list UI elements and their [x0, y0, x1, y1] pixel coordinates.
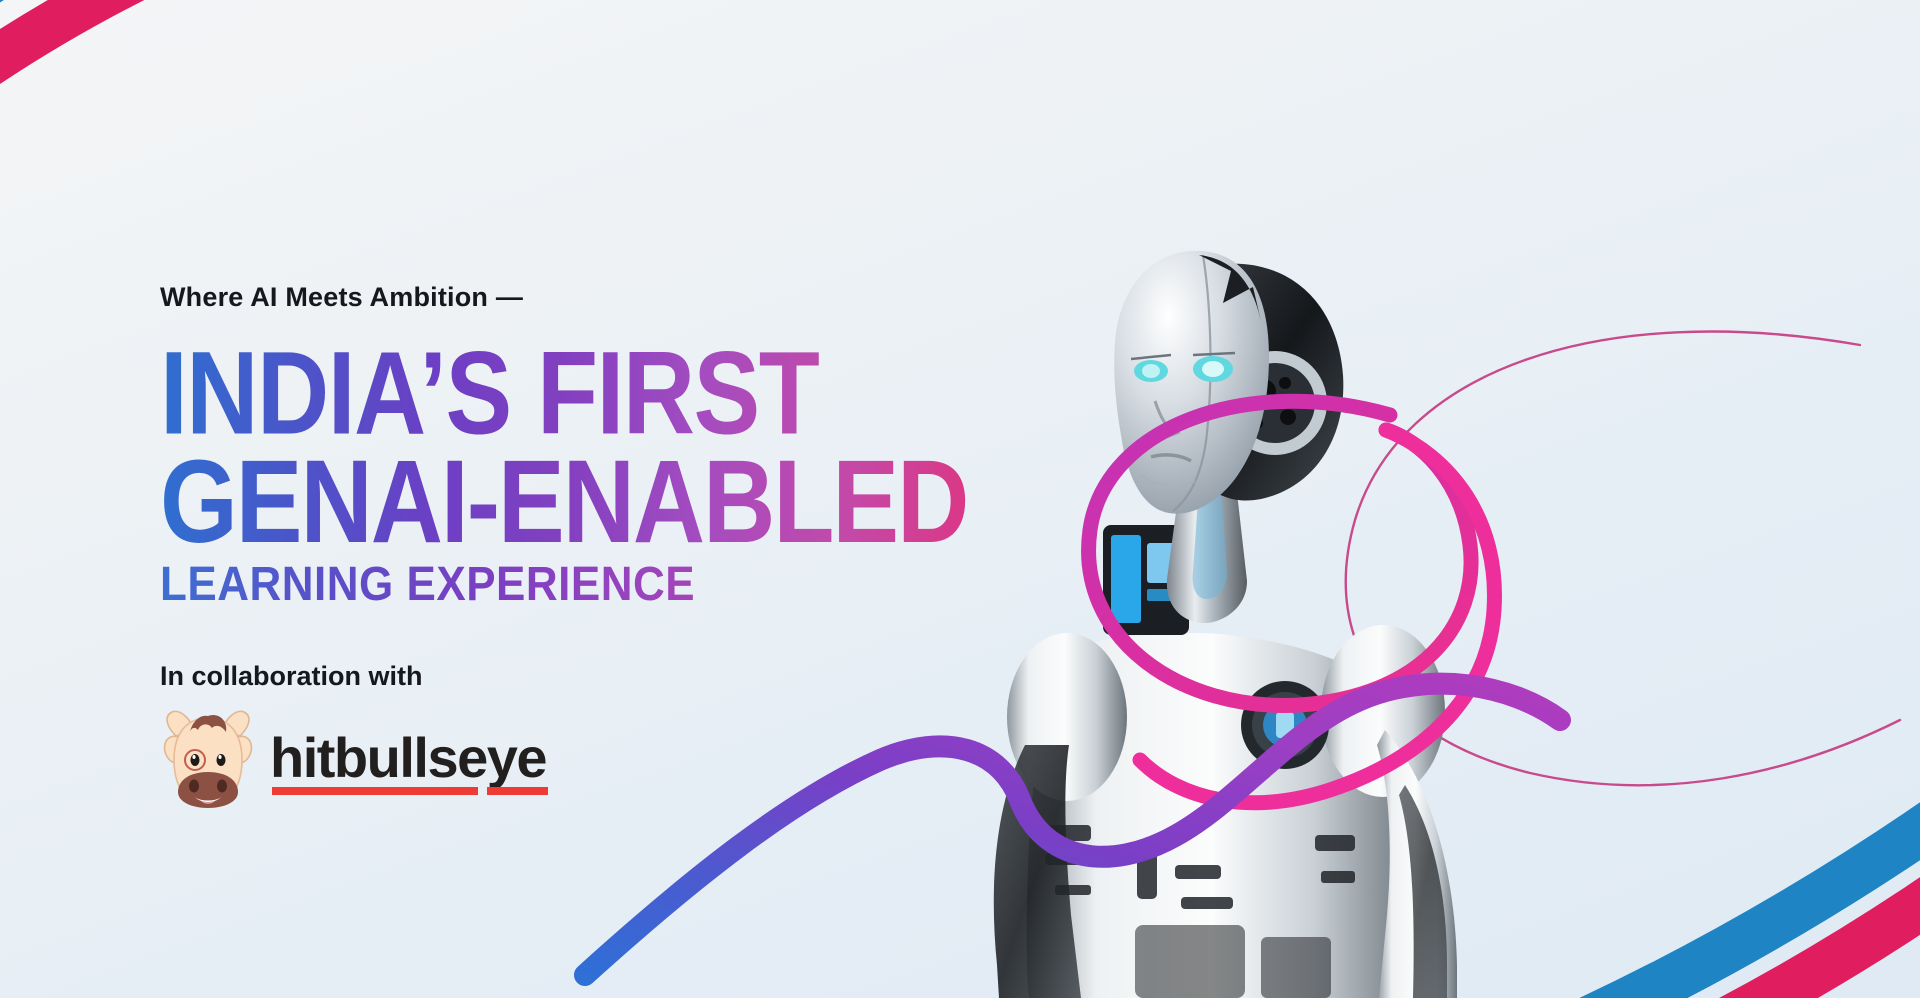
hero-content: Where AI Meets Ambition — INDIA’S FIRST …: [160, 282, 1180, 810]
partner-wordmark-wrap: hitbullseye: [270, 730, 546, 786]
underline-segment-short: [487, 787, 548, 795]
collaboration-label: In collaboration with: [160, 661, 1180, 692]
partner-logo[interactable]: hitbullseye: [160, 706, 1180, 810]
hero-banner: Where AI Meets Ambition — INDIA’S FIRST …: [0, 0, 1920, 998]
page-title: INDIA’S FIRST GENAI-ENABLED: [160, 339, 1180, 556]
magenta-loop-lower: [1140, 430, 1494, 803]
partner-underline: [272, 787, 548, 795]
partner-wordmark: hitbullseye: [270, 730, 546, 786]
underline-segment-long: [272, 787, 478, 795]
eyebrow-text: Where AI Meets Ambition —: [160, 282, 1180, 313]
subheadline: LEARNING EXPERIENCE: [160, 557, 1180, 612]
headline-line-1: INDIA’S FIRST: [160, 339, 1180, 448]
bull-mascot-icon: [160, 706, 256, 810]
headline-line-2: GENAI-ENABLED: [160, 448, 1180, 557]
